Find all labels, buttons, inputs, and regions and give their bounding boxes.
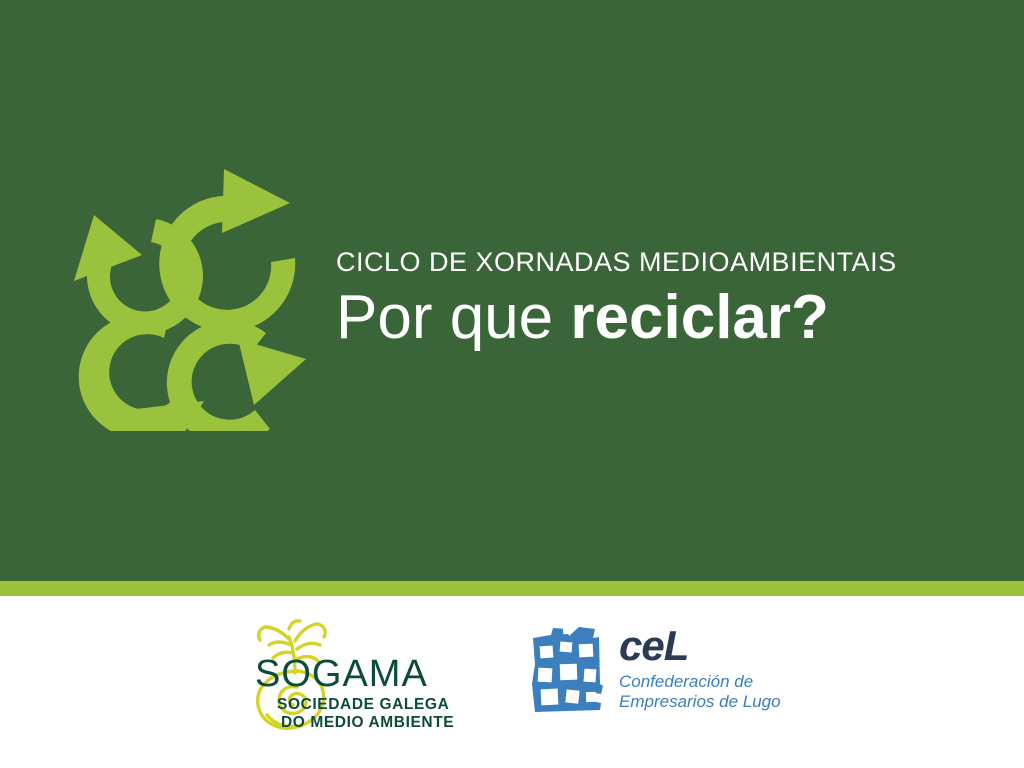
- sogama-tagline-line2: DO MEDIO AMBIENTE: [281, 714, 495, 732]
- cel-subtitle-line1: Confederación de: [619, 672, 781, 692]
- cel-name: ceL: [619, 626, 781, 666]
- cel-subtitle-line2: Empresarios de Lugo: [619, 692, 781, 712]
- sponsor-logo-row: SOGAMA SOCIEDADE GALEGA DO MEDIO AMBIENT…: [245, 615, 824, 733]
- title-block: CICLO DE XORNADAS MEDIOAMBIENTAIS Por qu…: [336, 247, 996, 352]
- cel-building-icon: [529, 624, 607, 716]
- presentation-slide: CICLO DE XORNADAS MEDIOAMBIENTAIS Por qu…: [0, 0, 1024, 768]
- sogama-tagline-line1: SOCIEDADE GALEGA: [277, 696, 495, 714]
- headline-bold-part: reciclar?: [570, 283, 829, 352]
- sogama-wordmark: SOGAMA SOCIEDADE GALEGA DO MEDIO AMBIENT…: [255, 655, 495, 733]
- recycle-four-arrows-icon: [52, 163, 314, 431]
- slide-eyebrow: CICLO DE XORNADAS MEDIOAMBIENTAIS: [336, 247, 996, 279]
- sogama-logo: SOGAMA SOCIEDADE GALEGA DO MEDIO AMBIENT…: [245, 615, 493, 733]
- cel-wordmark: ceL Confederación de Empresarios de Lugo: [619, 624, 781, 712]
- sogama-tagline: SOCIEDADE GALEGA DO MEDIO AMBIENTE: [277, 696, 495, 733]
- slide-headline: Por que reciclar?: [336, 285, 996, 352]
- headline-light-part: Por que: [336, 283, 570, 352]
- cel-subtitle: Confederación de Empresarios de Lugo: [619, 672, 781, 712]
- cel-logo: ceL Confederación de Empresarios de Lugo: [529, 624, 824, 724]
- sogama-name: SOGAMA: [255, 655, 495, 693]
- accent-divider-band: [0, 581, 1024, 596]
